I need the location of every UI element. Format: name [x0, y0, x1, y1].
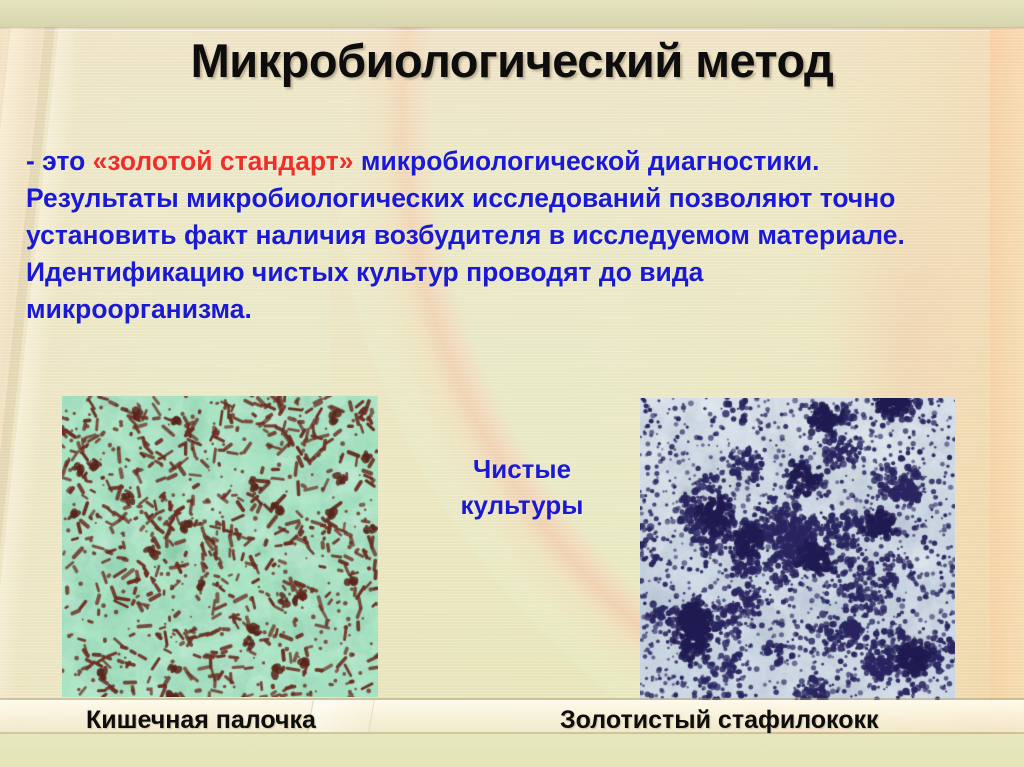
presentation-slide: Микробиологический метод - это «золотой …: [0, 0, 1024, 767]
slide-footer-area: [0, 734, 1024, 767]
caption-staphylococcus-aureus: Золотистый стафилококк: [560, 706, 879, 735]
top-band-shadow: [0, 27, 1024, 29]
caption-escherichia-coli: Кишечная палочка: [86, 706, 316, 735]
top-decorative-band: [0, 0, 1024, 27]
center-label-line-2: культуры: [404, 487, 640, 523]
center-label-line-1: Чистые: [404, 451, 640, 487]
body-lead: - это: [26, 146, 93, 176]
slide-title: Микробиологический метод: [0, 33, 1024, 88]
body-paragraph: - это «золотой стандарт» микробиологичес…: [26, 143, 926, 328]
micrograph-canvas-right: [640, 398, 955, 700]
bottom-band-notch: [307, 700, 375, 732]
escherichia-coli-micrograph: [62, 396, 378, 697]
micrograph-canvas-left: [62, 396, 378, 697]
center-label: Чистые культуры: [404, 451, 640, 523]
body-highlight: «золотой стандарт»: [93, 146, 354, 176]
staphylococcus-aureus-micrograph: [640, 398, 955, 700]
